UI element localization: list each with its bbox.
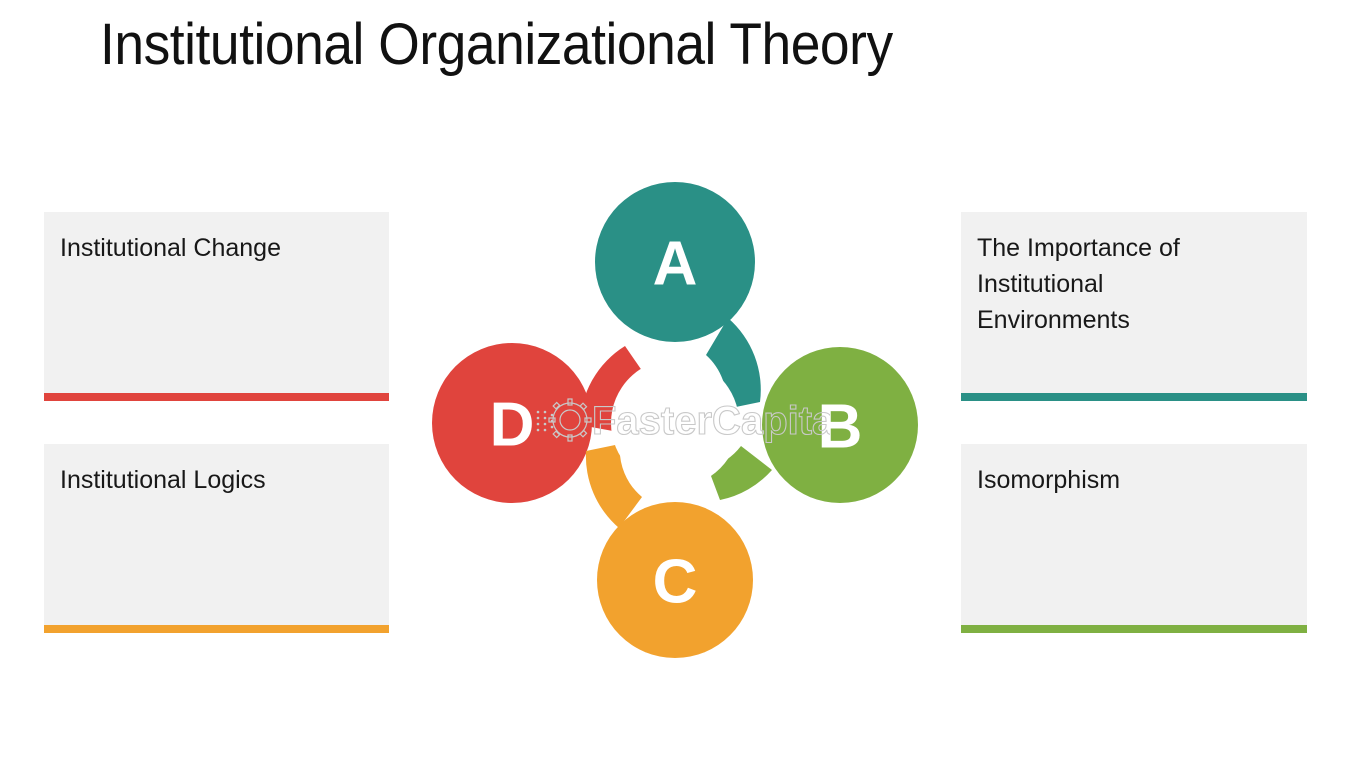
card-label: The Importance of Institutional Environm… [977,230,1291,338]
card-accent-bar [961,625,1307,633]
node-a-label: A [653,230,698,299]
card-isomorphism[interactable]: Isomorphism [961,444,1307,633]
card-accent-bar [44,625,389,633]
card-accent-bar [961,393,1307,401]
card-label: Institutional Change [60,230,373,266]
pinwheel-svg: D A B C [420,170,930,670]
node-c-label: C [653,548,698,617]
page-title: Institutional Organizational Theory [100,8,893,82]
card-label: Institutional Logics [60,462,373,498]
diagram-center-hole [611,359,739,487]
card-label: Isomorphism [977,462,1291,498]
node-b-label: B [818,393,863,462]
slide-canvas: Institutional Organizational Theory Inst… [0,0,1350,759]
card-institutional-logics[interactable]: Institutional Logics [44,444,389,633]
pinwheel-diagram: D A B C [420,170,930,670]
node-d-label: D [490,391,535,460]
card-institutional-change[interactable]: Institutional Change [44,212,389,401]
card-accent-bar [44,393,389,401]
card-importance-of-institutional-environments[interactable]: The Importance of Institutional Environm… [961,212,1307,401]
